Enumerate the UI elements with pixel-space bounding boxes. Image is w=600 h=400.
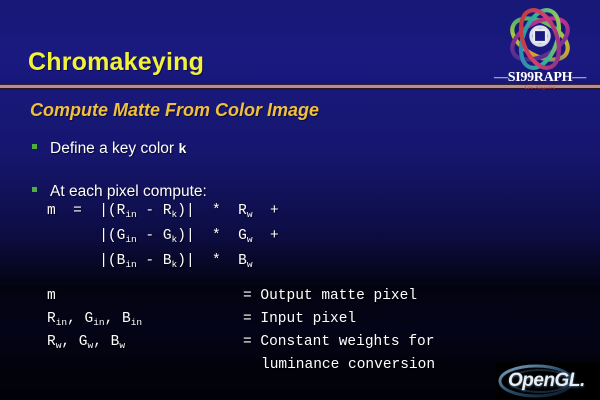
siggraph-rings-icon — [492, 6, 588, 72]
legend-definition: = Input pixel — [243, 308, 435, 331]
formula-subscript: k — [172, 259, 178, 270]
bullet-text: Define a key color k — [50, 140, 187, 158]
symbol-legend-block: m = Output matte pixel Rin, Gin, Bin = I… — [47, 285, 435, 377]
legend-sym-g: , G — [61, 334, 87, 350]
formula-operator: - R — [137, 203, 172, 219]
formula-line-blue: |(Bin - Bk)| * Bw — [47, 249, 279, 274]
formula-subscript: k — [172, 234, 178, 245]
matte-formula-block: m = |(Rin - Rk)| * Rw + |(Gin - Gk)| * G… — [47, 199, 279, 274]
legend-sym-b: , B — [93, 334, 119, 350]
legend-sub-g: w — [88, 340, 94, 351]
legend-sym-r: R — [47, 334, 56, 350]
legend-definition-continuation: luminance conversion — [47, 354, 435, 377]
legend-definition: = Output matte pixel — [243, 285, 435, 308]
legend-sub-r: in — [56, 317, 67, 328]
bullet-marker-icon — [32, 144, 37, 149]
legend-sub-r: w — [56, 340, 62, 351]
opengl-wordmark: OpenGL. — [508, 370, 585, 392]
page-title: Chromakeying — [28, 48, 204, 77]
legend-sub-b: w — [119, 340, 125, 351]
siggraph-wordmark: —SI99RAPH— — [484, 70, 596, 86]
wordmark-dash-right: — — [572, 70, 586, 85]
bullet-item-define-key-color: Define a key color k — [32, 140, 187, 158]
slide-canvas: Chromakeying Compute Matte From Color Im… — [0, 0, 600, 400]
formula-subscript: w — [247, 259, 253, 270]
formula-close: )| * G — [177, 228, 247, 244]
formula-subscript: in — [125, 234, 136, 245]
legend-symbol: m — [47, 285, 243, 308]
bullet-text-code: k — [178, 142, 186, 158]
formula-line-red: m = |(Rin - Rk)| * Rw + — [47, 199, 279, 224]
legend-sub-b: in — [131, 317, 142, 328]
formula-line-green: |(Gin - Gk)| * Gw + — [47, 224, 279, 249]
legend-definition: = Constant weights for — [243, 331, 435, 354]
wordmark-dash-left: — — [494, 70, 508, 85]
legend-symbol: Rin, Gin, Bin — [47, 308, 243, 331]
formula-close: )| * R — [177, 203, 247, 219]
formula-tail: + — [253, 228, 279, 244]
formula-lhs: m = — [47, 203, 99, 219]
formula-expr: |(R — [99, 203, 125, 219]
legend-row-weights: Rw, Gw, Bw = Constant weights for — [47, 331, 435, 354]
formula-operator: - B — [137, 253, 172, 269]
formula-subscript: w — [247, 209, 253, 220]
formula-lhs — [47, 253, 99, 269]
formula-subscript: k — [172, 209, 178, 220]
siggraph-logo: —SI99RAPH— Los Angeles — [484, 6, 596, 96]
formula-subscript: in — [125, 259, 136, 270]
formula-lhs — [47, 228, 99, 244]
legend-symbol: Rw, Gw, Bw — [47, 331, 243, 354]
legend-sym-r: R — [47, 311, 56, 327]
formula-close: )| * B — [177, 253, 247, 269]
legend-sym-g: , G — [67, 311, 93, 327]
formula-expr: |(B — [99, 253, 125, 269]
formula-expr: |(G — [99, 228, 125, 244]
slide-subtitle: Compute Matte From Color Image — [30, 100, 319, 121]
formula-subscript: w — [247, 234, 253, 245]
bullet-marker-icon — [32, 187, 37, 192]
opengl-logo: OpenGL. — [496, 362, 600, 400]
legend-row-matte: m = Output matte pixel — [47, 285, 435, 308]
wordmark-text: SI99RAPH — [508, 70, 573, 85]
legend-sub-g: in — [93, 317, 104, 328]
legend-row-input-pixel: Rin, Gin, Bin = Input pixel — [47, 308, 435, 331]
formula-tail: + — [253, 203, 279, 219]
legend-sym-b: , B — [105, 311, 131, 327]
siggraph-city-label: Los Angeles — [484, 85, 596, 91]
bullet-text-plain: Define a key color — [50, 140, 178, 157]
formula-subscript: in — [125, 209, 136, 220]
formula-operator: - G — [137, 228, 172, 244]
